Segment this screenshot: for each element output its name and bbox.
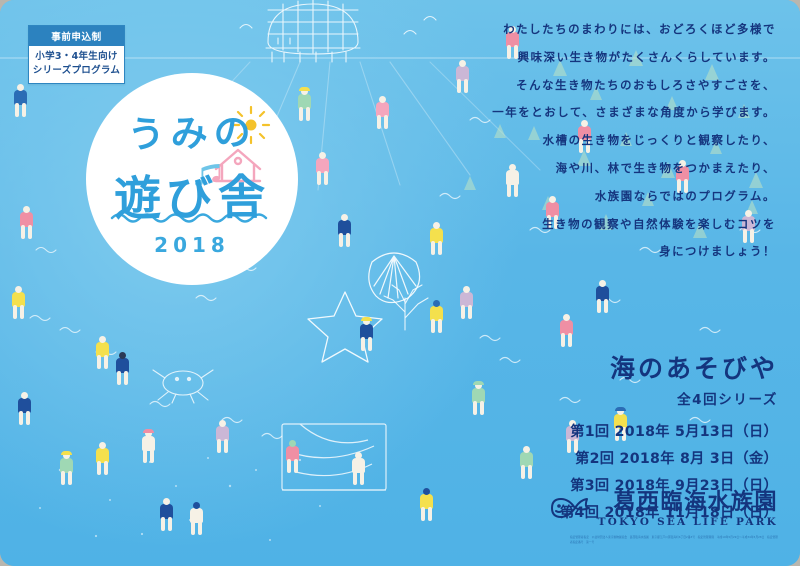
- logo-text-line1: うみの: [85, 101, 298, 159]
- description-line: 水族園ならではのプログラム。: [476, 191, 776, 202]
- aquarium-name-jp: 葛西臨海水族園: [613, 490, 778, 515]
- session-number: 第1回: [570, 424, 609, 440]
- description-block: わたしたちのまわりには、おどろくほど多様で 興味深い生き物がたくさんくらしていま…: [476, 24, 776, 274]
- description-line: 海や川、林で生き物をつかまえたり、: [476, 163, 776, 174]
- description-line: 興味深い生き物がたくさんくらしています。: [476, 52, 776, 63]
- program-logo-circle: うみの 遊び舎 2018: [86, 73, 298, 285]
- aquarium-name-en: TOKYO SEA LIFE PARK: [598, 516, 778, 528]
- badge-header: 事前申込制: [29, 26, 124, 46]
- schedule-subtitle: 全4回シリーズ: [560, 388, 778, 408]
- description-line: 水槽の生き物をじっくりと観察したり、: [476, 135, 776, 146]
- description-line: 身につけましょう！: [476, 246, 776, 257]
- poster-canvas: 事前申込制 小学3・4年生向け シリーズプログラム: [0, 0, 800, 566]
- session-date: 5月13日（日）: [675, 424, 778, 440]
- schedule-session-row: 第2回 2018年 8月 3日（金）: [560, 448, 778, 468]
- aquarium-logo: 葛西臨海水族園 TOKYO SEA LIFE PARK: [549, 492, 778, 528]
- description-line: 生き物の観察や自然体験を楽しむコツを: [476, 219, 776, 230]
- session-number: 第2回: [575, 451, 614, 467]
- description-line: わたしたちのまわりには、おどろくほど多様で: [476, 24, 776, 35]
- logo-year: 2018: [86, 233, 298, 257]
- description-line: そんな生き物たちのおもしろさやすごさを、: [476, 80, 776, 91]
- description-line: 一年をとおして、さまざまな角度から学びます。: [476, 107, 776, 118]
- session-year: 2018年: [615, 424, 670, 440]
- fine-print: 指定管理者指定 公益財団法人東京動物園協会 葛西臨海水族園 東京都江戸川区臨海町…: [570, 536, 778, 545]
- badge-line-1: 小学3・4年生向け: [29, 50, 124, 64]
- fish-icon: [549, 495, 591, 525]
- logo-text-line2: 遊び舎: [86, 158, 299, 229]
- schedule-session-row: 第1回 2018年 5月13日（日）: [560, 421, 778, 441]
- schedule-title: 海のあそびや: [560, 355, 778, 383]
- session-date: 8月 3日（金）: [680, 451, 778, 467]
- session-year: 2018年: [620, 451, 675, 467]
